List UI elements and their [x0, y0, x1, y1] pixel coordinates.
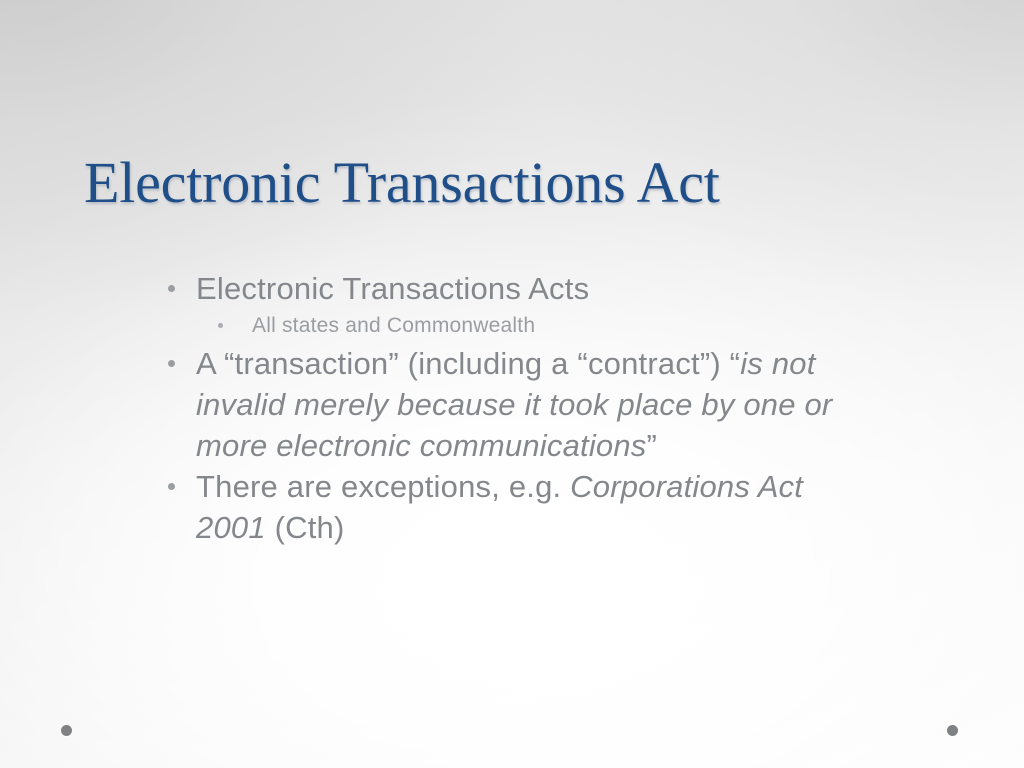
slide-body-content: Electronic Transactions Acts All states … — [160, 268, 860, 548]
bullet-text: Electronic Transactions Acts — [196, 271, 589, 306]
bullet-text-jurisdiction: (Cth) — [266, 510, 345, 545]
bullet-text-lead: There are exceptions, e.g. — [196, 469, 570, 504]
bullet-text-closing-quote: ” — [647, 428, 658, 463]
decorative-dot-right-icon — [947, 725, 958, 736]
sub-bullet-text: All states and Commonwealth — [252, 314, 535, 337]
bullet-item: Electronic Transactions Acts — [160, 268, 860, 309]
slide-title: Electronic Transactions Act — [84, 153, 944, 214]
bullet-text-lead: A “transaction” (including a “contract”)… — [196, 346, 740, 381]
bullet-dot-icon — [168, 483, 175, 490]
bullet-dot-icon — [168, 285, 175, 292]
bullet-item: A “transaction” (including a “contract”)… — [160, 343, 860, 466]
sub-bullet-dot-icon — [218, 323, 223, 328]
decorative-dot-left-icon — [61, 725, 72, 736]
presentation-slide: Electronic Transactions Act Electronic T… — [0, 0, 1024, 768]
bullet-item: There are exceptions, e.g. Corporations … — [160, 466, 860, 548]
sub-bullet-item: All states and Commonwealth — [160, 309, 860, 343]
bullet-dot-icon — [168, 360, 175, 367]
